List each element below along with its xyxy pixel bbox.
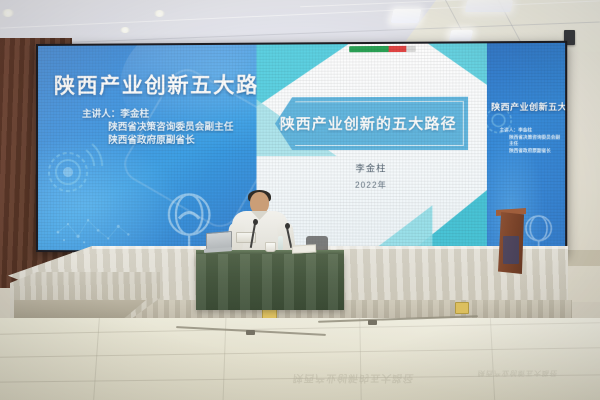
cable-connector [246, 330, 255, 335]
decor-triangle [414, 43, 487, 97]
ceiling-downlight [154, 10, 165, 17]
slide-presenter-block-right: 主讲人：李金柱 陕西省决策咨询委员会副主任 陕西省政府原副省长 [500, 127, 561, 154]
slide-title-left: 陕西产业创新五大路径 [54, 69, 244, 100]
presenter-label-right: 主讲人： [500, 127, 519, 132]
ceiling-panel-light [465, 0, 514, 12]
slide-presenter-block-left: 主讲人：李金柱 陕西省决策咨询委员会副主任 陕西省政府原副省长 [82, 107, 256, 147]
presenter-affiliation-2-left: 陕西省政府原副省长 [82, 134, 256, 147]
floor-reflection-right: 陕西产业创新五大路径 [477, 368, 558, 378]
slide-author-center: 李金柱 [256, 161, 486, 175]
slide-title-banner-center: 陕西产业创新的五大路径 [275, 97, 468, 150]
water-bottle [278, 236, 283, 250]
decor-triangle [357, 205, 432, 253]
presentation-status-bar [349, 46, 416, 52]
ceiling-panel-light [391, 9, 422, 23]
papers [292, 244, 316, 253]
lectern-panel [503, 236, 519, 264]
wall-skirting [566, 250, 600, 266]
slide-panel-right[interactable]: 陕西产业创新五大路径 主讲人：李金柱 陕西省决策咨询委员会副主任 陕西省政府原副… [487, 43, 565, 253]
floor-reflection-center: 陕西产业创新的五大路径 [292, 372, 415, 387]
tea-cup [265, 242, 276, 252]
ceiling-downlight [120, 27, 130, 33]
particles-decor [52, 202, 143, 245]
presenter-label-left: 主讲人： [82, 109, 120, 120]
presenter-affiliation-1-left: 陕西省决策咨询委员会副主任 [82, 121, 256, 134]
floor-outlet-plate [455, 302, 469, 314]
presenter-name-right: 李金柱 [518, 127, 532, 132]
ceiling-panel-light [449, 30, 473, 41]
slide-title-right: 陕西产业创新五大路径 [491, 101, 561, 114]
ring-logo-icon [521, 212, 557, 251]
gear-icon [42, 138, 106, 202]
ceiling-downlight [2, 9, 14, 17]
slide-panel-left[interactable]: 陕西产业创新五大路径 主讲人：李金柱 陕西省决策咨询委员会副主任 陕西省政府原副… [38, 45, 256, 252]
floor [0, 318, 600, 400]
microphone-head [253, 219, 258, 225]
presenter-affiliation-1-right: 陕西省决策咨询委员会副主任 [500, 134, 561, 147]
presenter-name-left: 李金柱 [120, 109, 149, 120]
cable-connector [368, 320, 377, 325]
presenter-affiliation-2-right: 陕西省政府原副省长 [500, 147, 561, 154]
conference-hall-scene: 陕西产业创新五大路径 主讲人：李金柱 陕西省决策咨询委员会副主任 陕西省政府原副… [0, 0, 600, 400]
laptop[interactable] [204, 232, 232, 253]
status-green-segment [349, 46, 388, 52]
slide-year-center: 2022年 [256, 179, 486, 191]
microphone-head [285, 223, 290, 229]
led-video-wall[interactable]: 陕西产业创新五大路径 主讲人：李金柱 陕西省决策咨询委员会副主任 陕西省政府原副… [36, 41, 567, 255]
slide-title-center: 陕西产业创新的五大路径 [275, 113, 462, 135]
table-cloth [196, 254, 344, 310]
status-grey-segment [406, 46, 415, 52]
laptop-keyboard [204, 247, 232, 253]
status-red-segment [389, 46, 407, 52]
